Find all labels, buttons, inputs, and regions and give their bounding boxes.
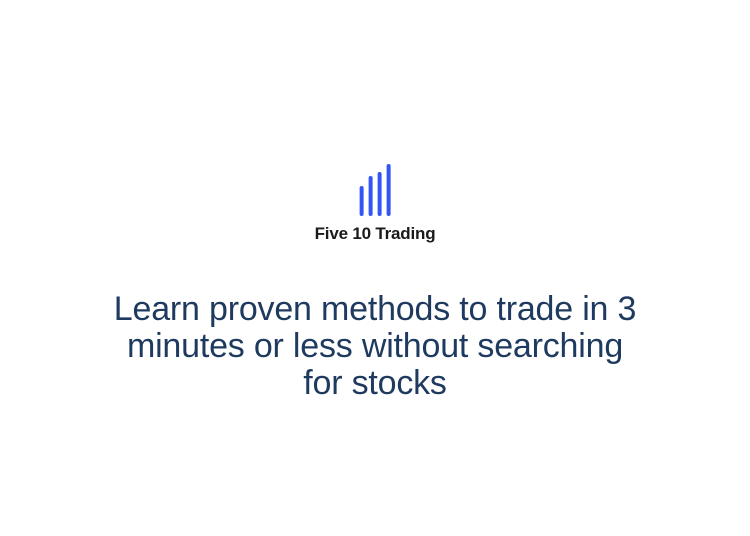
headline-line-3: for stocks [75,365,675,402]
headline-line-1: Learn proven methods to trade in 3 [75,291,675,328]
ascending-bar-chart-logo-icon [359,160,390,216]
logo-bar-3 [377,172,381,216]
page-title: Learn proven methods to trade in 3 minut… [75,291,675,402]
brand-block: Five 10 Trading [315,160,436,242]
brand-wordmark: Five 10 Trading [315,225,436,242]
logo-bar-4 [386,164,390,216]
headline-line-2: minutes or less without searching [75,328,675,365]
logo-bar-2 [368,176,372,216]
slide-canvas: Five 10 Trading Learn proven methods to … [0,0,750,536]
logo-bar-1 [359,186,363,216]
